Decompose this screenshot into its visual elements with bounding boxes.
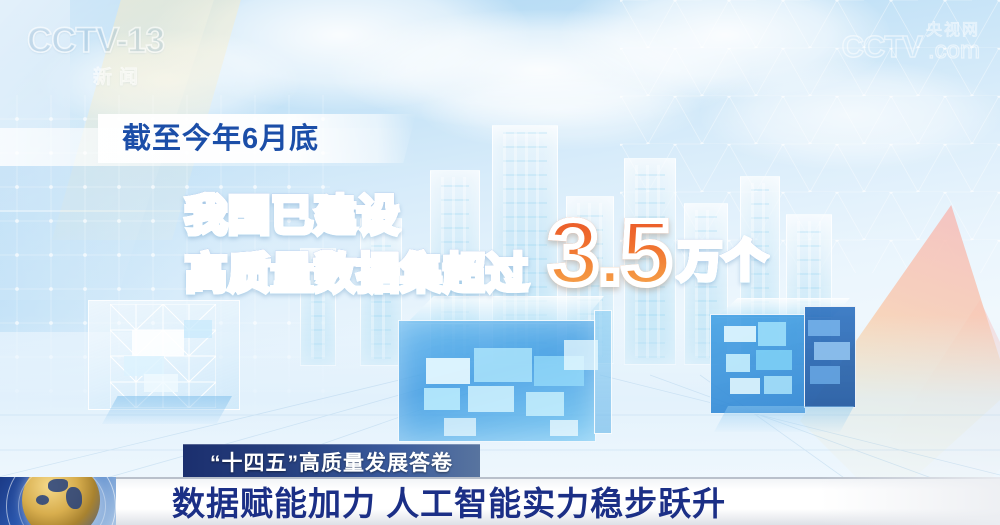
broadcast-screen: CCTV-13 新闻 CCTV 央视网 .com 截至今年6月底 我国已建设 高… (0, 0, 1000, 525)
news-ticker-headline: 数据赋能加力 人工智能实力稳步跃升 (172, 477, 726, 525)
globe-icon (0, 477, 116, 525)
cloud-decoration (330, 10, 750, 130)
cctv13-logo-subtitle: 新闻 (27, 62, 187, 89)
statistic-number: 3.5 (548, 207, 670, 299)
cloud-decoration (150, 0, 530, 110)
watermark-com-text: .com (926, 39, 980, 63)
watermark-cctv-text: CCTV (842, 31, 922, 63)
glass-cube-center (398, 296, 610, 448)
cloud-decoration (420, 70, 700, 150)
statistic-unit: 万个 (678, 238, 768, 286)
cloud-decoration (700, 60, 1000, 170)
cloud-decoration (560, 0, 890, 100)
kicker-text: 截至今年6月底 (122, 120, 319, 158)
glass-cube-left (88, 300, 238, 420)
headline-line-2: 高质量数据集超过 (185, 240, 529, 301)
cctv-com-watermark: CCTV 央视网 .com (842, 22, 980, 63)
program-title-bar: “十四五”高质量发展答卷 (183, 444, 480, 478)
headline-line-1: 我国已建设 (185, 182, 400, 243)
program-title-text: “十四五”高质量发展答卷 (183, 445, 480, 478)
cctv13-logo-text: CCTV-13 (27, 22, 187, 60)
glass-cube-right (710, 298, 860, 428)
cctv13-channel-logo: CCTV-13 新闻 (27, 22, 187, 92)
